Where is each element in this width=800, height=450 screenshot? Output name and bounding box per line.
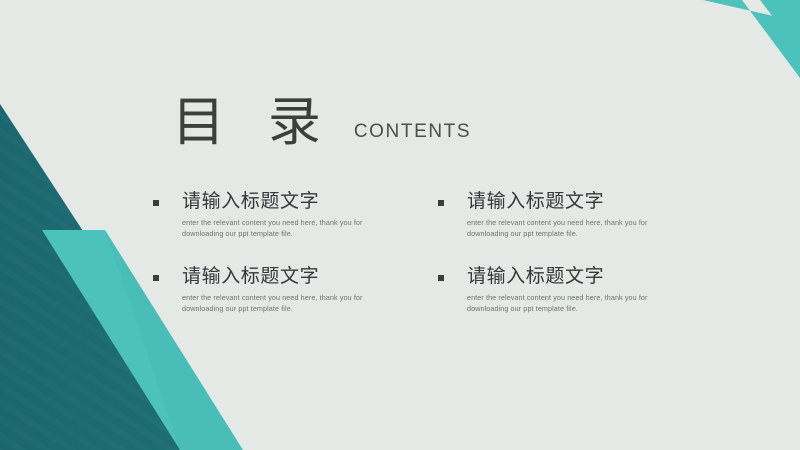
title-chinese: 目 录 <box>172 96 334 149</box>
list-item-title: 请输入标题文字 <box>467 265 718 289</box>
contents-column-right: 请输入标题文字 enter the relevant content you n… <box>433 190 718 265</box>
list-item-description: enter the relevant content you need here… <box>182 217 400 239</box>
bullet-icon <box>438 200 444 206</box>
list-item-description: enter the relevant content you need here… <box>467 217 685 239</box>
slide-canvas: 目 录 CONTENTS 请输入标题文字 enter the relevant … <box>0 0 800 450</box>
contents-list: 请输入标题文字 enter the relevant content you n… <box>0 190 800 340</box>
bullet-icon <box>153 275 159 281</box>
contents-column-left: 请输入标题文字 enter the relevant content you n… <box>148 190 433 265</box>
list-item-title: 请输入标题文字 <box>182 190 433 214</box>
bullet-icon <box>153 200 159 206</box>
slide-content: 目 录 CONTENTS 请输入标题文字 enter the relevant … <box>0 0 800 450</box>
list-item[interactable]: 请输入标题文字 enter the relevant content you n… <box>433 190 718 239</box>
list-item-description: enter the relevant content you need here… <box>182 292 400 314</box>
contents-row: 请输入标题文字 enter the relevant content you n… <box>0 265 800 340</box>
list-item-title: 请输入标题文字 <box>467 190 718 214</box>
contents-column-right: 请输入标题文字 enter the relevant content you n… <box>433 265 718 340</box>
contents-row: 请输入标题文字 enter the relevant content you n… <box>0 190 800 265</box>
contents-column-left: 请输入标题文字 enter the relevant content you n… <box>148 265 433 340</box>
list-item[interactable]: 请输入标题文字 enter the relevant content you n… <box>148 190 433 239</box>
bullet-icon <box>438 275 444 281</box>
list-item[interactable]: 请输入标题文字 enter the relevant content you n… <box>433 265 718 314</box>
list-item-title: 请输入标题文字 <box>182 265 433 289</box>
page-title: 目 录 CONTENTS <box>172 96 471 149</box>
title-english: CONTENTS <box>354 121 471 143</box>
list-item-description: enter the relevant content you need here… <box>467 292 685 314</box>
list-item[interactable]: 请输入标题文字 enter the relevant content you n… <box>148 265 433 314</box>
